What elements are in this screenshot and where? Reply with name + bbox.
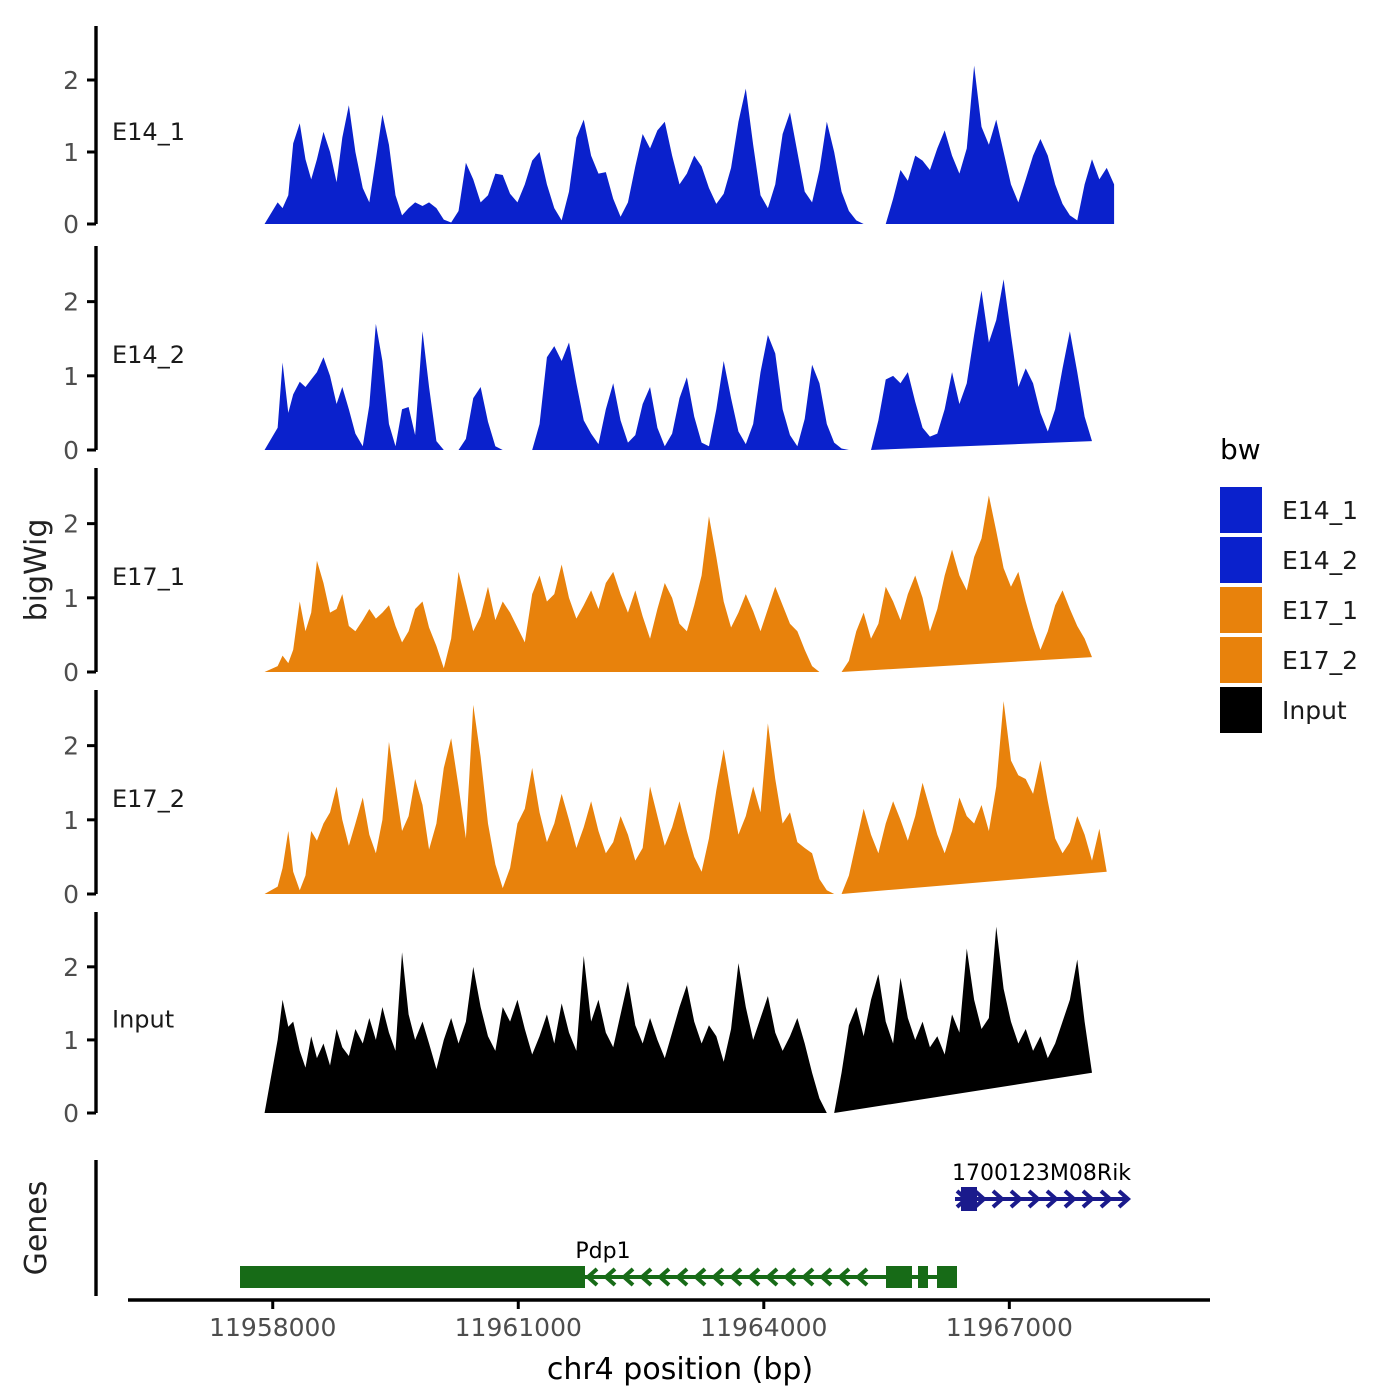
gene-label: 1700123M08Rik — [952, 1161, 1131, 1186]
track-label-E17_1: E17_1 — [112, 563, 185, 591]
x-tick-label: 11967000 — [946, 1313, 1073, 1342]
x-tick-label: 11964000 — [700, 1313, 827, 1342]
gene-exon — [937, 1266, 957, 1288]
legend-swatch-E14_1[interactable] — [1220, 487, 1262, 533]
track-area-Input — [265, 952, 827, 1113]
x-axis-label: chr4 position (bp) — [547, 1352, 813, 1387]
track-panel-Input: 012Input — [63, 912, 1092, 1128]
genome-browser-figure: 012E14_1012E14_2012E17_1012E17_2012Input… — [0, 0, 1400, 1400]
y-tick-label: 2 — [63, 288, 79, 317]
track-area-E17_2 — [265, 705, 835, 894]
legend-label-E14_1: E14_1 — [1282, 496, 1358, 525]
legend-swatch-E17_2[interactable] — [1220, 637, 1262, 683]
y-tick-label: 0 — [63, 1099, 79, 1128]
y-axis-label-bigwig: bigWig — [19, 519, 54, 622]
genes-panel: 1700123M08RikPdp1 — [96, 1160, 1131, 1296]
track-area-E14_2 — [265, 324, 444, 450]
gene-1700123M08Rik[interactable]: 1700123M08Rik — [952, 1161, 1131, 1211]
track-label-E14_2: E14_2 — [112, 341, 185, 369]
figure-root: 012E14_1012E14_2012E17_1012E17_2012Input… — [0, 0, 1400, 1400]
legend-label-E14_2: E14_2 — [1282, 546, 1358, 575]
gene-exon — [886, 1266, 912, 1288]
y-axis-label-genes: Genes — [19, 1181, 54, 1276]
gene-Pdp1[interactable]: Pdp1 — [240, 1239, 957, 1288]
y-tick-label: 1 — [63, 1026, 79, 1055]
y-tick-label: 0 — [63, 436, 79, 465]
legend-label-E17_1: E17_1 — [1282, 596, 1358, 625]
track-panel-E17_1: 012E17_1 — [63, 468, 1092, 687]
track-area-E14_1 — [265, 89, 864, 224]
track-panel-E17_2: 012E17_2 — [63, 690, 1107, 909]
legend-swatch-Input[interactable] — [1220, 687, 1262, 733]
y-tick-label: 2 — [63, 953, 79, 982]
x-tick-label: 11958000 — [209, 1313, 336, 1342]
x-tick-label: 11961000 — [455, 1313, 582, 1342]
gene-exon — [918, 1266, 928, 1288]
legend-label-E17_2: E17_2 — [1282, 646, 1358, 675]
track-area-E17_2 — [842, 701, 1107, 894]
y-tick-label: 0 — [63, 658, 79, 687]
track-label-Input: Input — [112, 1005, 174, 1033]
y-tick-label: 1 — [63, 584, 79, 613]
y-tick-label: 0 — [63, 210, 79, 239]
y-tick-label: 1 — [63, 138, 79, 167]
y-tick-label: 1 — [63, 806, 79, 835]
track-area-Input — [834, 927, 1092, 1113]
track-area-E14_2 — [871, 279, 1092, 450]
track-label-E17_2: E17_2 — [112, 785, 185, 813]
legend-swatch-E17_1[interactable] — [1220, 587, 1262, 633]
legend: bwE14_1E14_2E17_1E17_2Input — [1220, 433, 1358, 733]
y-tick-label: 0 — [63, 880, 79, 909]
gene-label: Pdp1 — [575, 1239, 630, 1264]
track-area-E17_1 — [265, 516, 820, 672]
legend-title: bw — [1220, 433, 1261, 466]
track-panel-E14_2: 012E14_2 — [63, 246, 1092, 465]
legend-swatch-E14_2[interactable] — [1220, 537, 1262, 583]
track-label-E14_1: E14_1 — [112, 118, 185, 146]
y-tick-label: 2 — [63, 510, 79, 539]
track-area-E14_1 — [886, 66, 1114, 224]
y-tick-label: 2 — [63, 66, 79, 95]
track-area-E17_1 — [842, 495, 1092, 672]
y-tick-label: 1 — [63, 362, 79, 391]
legend-label-Input: Input — [1282, 696, 1347, 725]
track-area-E14_2 — [459, 387, 503, 450]
gene-exon — [240, 1266, 585, 1288]
track-panel-E14_1: 012E14_1 — [63, 26, 1114, 239]
track-area-E14_2 — [532, 335, 849, 450]
y-tick-label: 2 — [63, 732, 79, 761]
